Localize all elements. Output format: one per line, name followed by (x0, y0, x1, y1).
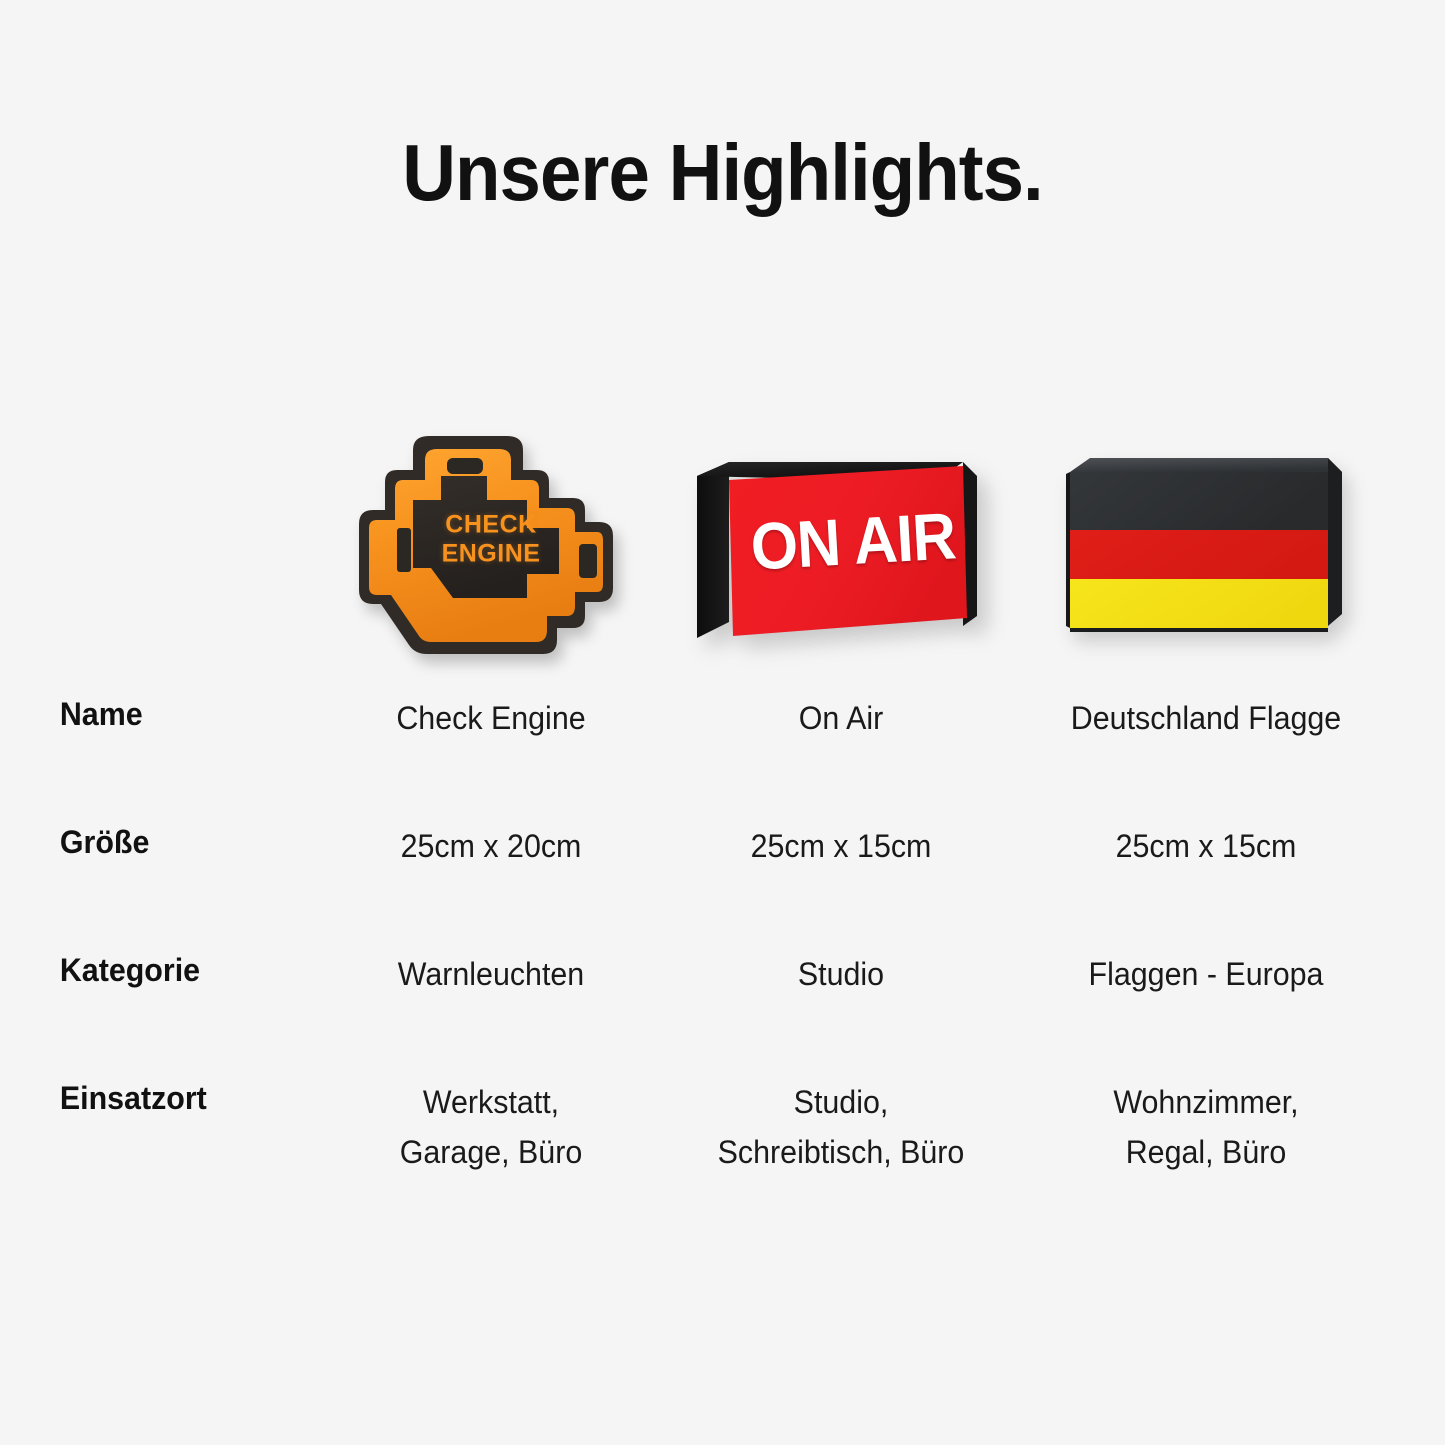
table-row: Einsatzort Werkstatt, Garage, Büro Studi… (0, 1078, 1445, 1258)
row-label-einsatzort: Einsatzort (0, 1078, 300, 1118)
product-image-row: CHECKENGINE (0, 408, 1445, 668)
cell-groesse-deutschland-flagge: 25cm x 15cm (1026, 822, 1387, 872)
cell-kategorie-deutschland-flagge: Flaggen - Europa (1026, 950, 1387, 1000)
germany-flag-lightbox-icon (1056, 448, 1356, 643)
product-image-check-engine[interactable]: CHECKENGINE (316, 408, 666, 668)
cell-name-on-air: On Air (675, 694, 1008, 744)
product-image-on-air[interactable]: ON AIR (666, 408, 1016, 668)
cell-einsatzort-check-engine: Werkstatt, Garage, Büro (325, 1078, 658, 1177)
table-row: Name Check Engine On Air Deutschland Fla… (0, 694, 1445, 822)
check-engine-shape (341, 432, 641, 660)
row-label-groesse: Größe (0, 822, 300, 862)
cell-groesse-on-air: 25cm x 15cm (675, 822, 1008, 872)
product-image-deutschland-flagge[interactable] (1016, 408, 1396, 668)
row-label-kategorie: Kategorie (0, 950, 300, 990)
cell-einsatzort-deutschland-flagge: Wohnzimmer, Regal, Büro (1026, 1078, 1387, 1177)
table-row: Kategorie Warnleuchten Studio Flaggen - … (0, 950, 1445, 1078)
on-air-box-shape (689, 448, 994, 648)
cell-kategorie-on-air: Studio (675, 950, 1008, 1000)
cell-kategorie-check-engine: Warnleuchten (325, 950, 658, 1000)
on-air-lightbox-icon: ON AIR (689, 448, 994, 648)
check-engine-lamp-icon: CHECKENGINE (341, 432, 641, 660)
cell-groesse-check-engine: 25cm x 20cm (325, 822, 658, 872)
germany-flag-box-shape (1056, 448, 1356, 643)
cell-name-deutschland-flagge: Deutschland Flagge (1026, 694, 1387, 744)
cell-name-check-engine: Check Engine (325, 694, 658, 744)
page-title: Unsere Highlights. (51, 133, 1395, 213)
spec-table: Name Check Engine On Air Deutschland Fla… (0, 694, 1445, 1258)
row-label-name: Name (0, 694, 300, 734)
cell-einsatzort-on-air: Studio, Schreibtisch, Büro (675, 1078, 1008, 1177)
table-row: Größe 25cm x 20cm 25cm x 15cm 25cm x 15c… (0, 822, 1445, 950)
